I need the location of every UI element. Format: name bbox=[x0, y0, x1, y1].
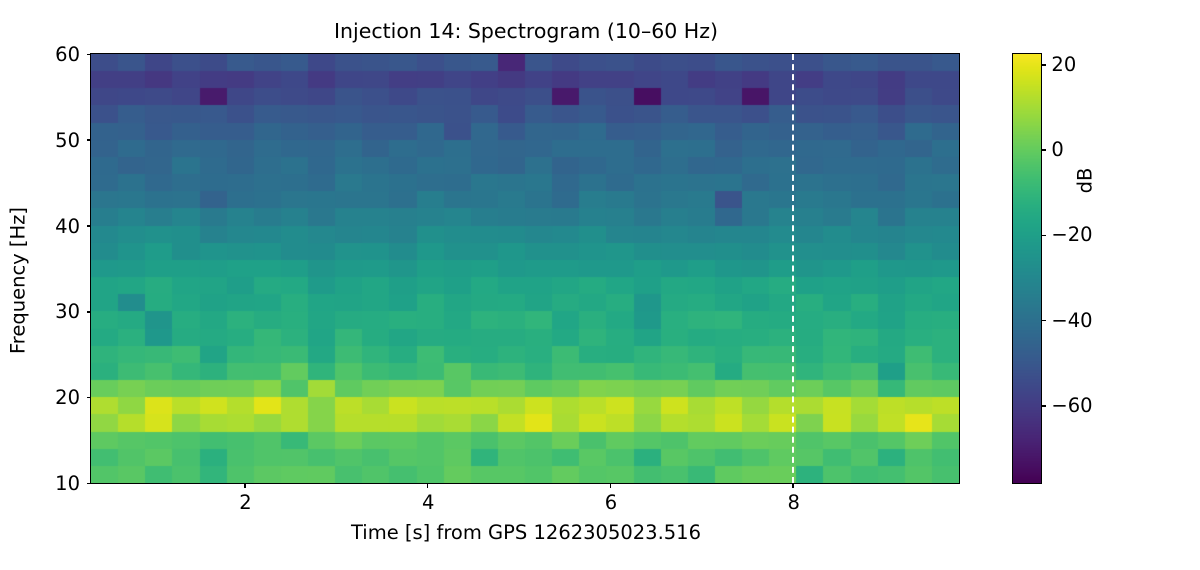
y-tick-mark bbox=[87, 311, 92, 313]
x-tick-mark bbox=[244, 483, 246, 488]
colorbar-tick-mark bbox=[1041, 235, 1046, 237]
x-tick-mark bbox=[792, 483, 794, 488]
figure-canvas: Injection 14: Spectrogram (10–60 Hz) 102… bbox=[0, 0, 1200, 570]
colorbar-tick-mark bbox=[1041, 149, 1046, 151]
colorbar-tick-mark bbox=[1041, 320, 1046, 322]
x-axis-label: Time [s] from GPS 1262305023.516 bbox=[92, 521, 960, 544]
y-tick-mark bbox=[87, 139, 92, 141]
x-tick-label: 6 bbox=[605, 493, 617, 513]
colorbar-tick-label: 20 bbox=[1051, 55, 1076, 75]
x-tick-mark bbox=[427, 483, 429, 488]
colorbar-label: dB bbox=[1074, 81, 1097, 281]
y-tick-label: 10 bbox=[8, 474, 80, 494]
colorbar-tick-label: −40 bbox=[1051, 311, 1092, 331]
colorbar-tick-mark bbox=[1041, 405, 1046, 407]
x-tick-label: 4 bbox=[422, 493, 434, 513]
x-tick-mark bbox=[610, 483, 612, 488]
y-tick-mark bbox=[87, 397, 92, 399]
colorbar[interactable]: −60−40−20020 bbox=[1012, 53, 1042, 484]
x-tick-label: 2 bbox=[239, 493, 251, 513]
x-tick-label: 8 bbox=[787, 493, 799, 513]
y-tick-mark bbox=[87, 483, 92, 485]
colorbar-gradient bbox=[1013, 54, 1041, 483]
spectrogram-axes[interactable] bbox=[90, 53, 960, 484]
y-tick-mark bbox=[87, 54, 92, 56]
colorbar-tick-mark bbox=[1041, 64, 1046, 66]
spectrogram-heatmap bbox=[91, 54, 959, 483]
colorbar-tick-label: −60 bbox=[1051, 396, 1092, 416]
page-title: Injection 14: Spectrogram (10–60 Hz) bbox=[92, 20, 960, 43]
y-axis-label: Frequency [Hz] bbox=[7, 131, 30, 431]
y-tick-mark bbox=[87, 225, 92, 227]
colorbar-tick-label: 0 bbox=[1051, 140, 1063, 160]
y-tick-label: 60 bbox=[8, 45, 80, 65]
